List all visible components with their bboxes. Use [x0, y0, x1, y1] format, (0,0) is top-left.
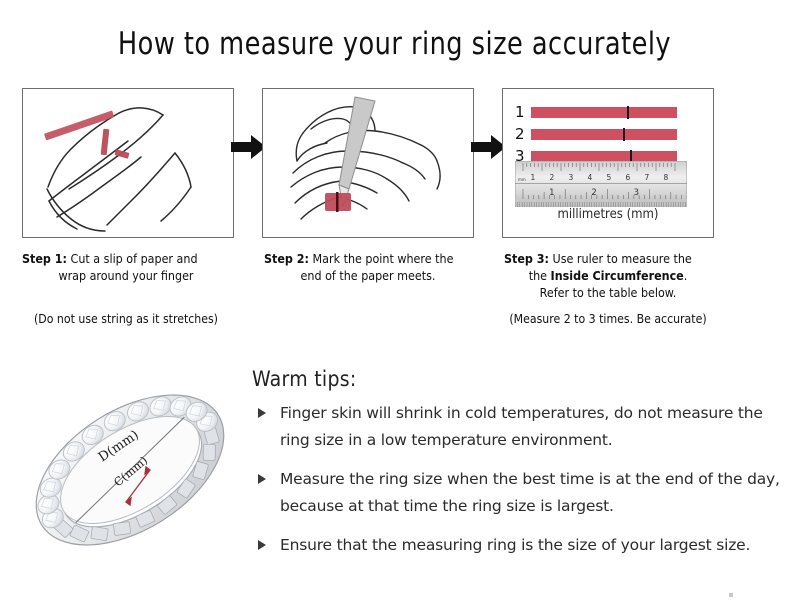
svg-text:6: 6: [626, 173, 631, 182]
page-title: How to measure your ring size accurately: [32, 26, 758, 62]
strip-mark-2: [623, 128, 625, 141]
strip-number-2: 2: [515, 125, 531, 143]
triangle-bullet-icon: [258, 474, 266, 484]
svg-text:7: 7: [645, 173, 650, 182]
ruler-unit-label: millimetres (mm): [503, 207, 713, 222]
svg-text:2: 2: [550, 173, 555, 182]
step-3-line2-pre: the: [529, 268, 551, 283]
paper-strip-row-1: 1: [515, 103, 677, 121]
strip-number-1: 1: [515, 103, 531, 121]
diamond-eternity-ring-icon: D(mm) C(mm): [18, 352, 256, 582]
step-3-line3: Refer to the table below.: [540, 285, 677, 300]
tip-text-1: Finger skin will shrink in cold temperat…: [280, 404, 763, 449]
step-3-line1: Use ruler to measure the: [553, 251, 692, 266]
step-2-illustration-panel: [262, 88, 474, 238]
hand-with-pen-marking-icon: [263, 89, 473, 237]
tip-item-3: Ensure that the measuring ring is the si…: [252, 532, 782, 559]
paper-strip-3: [531, 151, 677, 162]
step-1-illustration-panel: [22, 88, 234, 238]
ruler-icon: 12345678 mm 123: [515, 161, 687, 207]
step-3-caption: Step 3: Use ruler to measure the the Ins…: [492, 250, 724, 301]
tip-item-2: Measure the ring size when the best time…: [252, 466, 782, 520]
step-1-label: Step 1:: [22, 251, 67, 266]
svg-text:1: 1: [549, 188, 554, 198]
svg-text:2: 2: [591, 188, 596, 198]
step-1-line2: wrap around your finger: [58, 268, 193, 283]
triangle-bullet-icon: [258, 408, 266, 418]
paper-strip-row-2: 2: [515, 125, 677, 143]
step-1-note: (Do not use string as it stretches): [10, 312, 242, 326]
step-3-label: Step 3:: [504, 251, 549, 266]
step-1-line1: Cut a slip of paper and: [71, 251, 198, 266]
step-3-illustration-panel: 1 2 3: [502, 88, 714, 238]
strip-mark-1: [627, 106, 629, 119]
paper-strip-1: [531, 107, 677, 118]
step-3-line2-post: .: [684, 268, 688, 283]
step-2-caption: Step 2: Mark the point where the end of …: [252, 250, 484, 284]
warm-tips-list: Finger skin will shrink in cold temperat…: [252, 400, 782, 571]
ring-size-guide-page: How to measure your ring size accurately: [0, 0, 789, 606]
svg-text:8: 8: [664, 173, 669, 182]
warm-tips-heading: Warm tips:: [252, 367, 357, 391]
step-3-note: (Measure 2 to 3 times. Be accurate): [492, 312, 724, 326]
hand-with-paper-strip-icon: [23, 89, 233, 237]
tip-text-2: Measure the ring size when the best time…: [280, 470, 780, 515]
step-3-line2-bold: Inside Circumference: [551, 268, 684, 283]
svg-text:3: 3: [634, 188, 639, 198]
svg-text:4: 4: [588, 173, 593, 182]
step-2-label: Step 2:: [264, 251, 309, 266]
ruler-mm-unit: mm: [518, 177, 526, 182]
tip-item-1: Finger skin will shrink in cold temperat…: [252, 400, 782, 454]
paper-strip-2: [531, 129, 677, 140]
triangle-bullet-icon: [258, 540, 266, 550]
svg-text:1: 1: [531, 173, 536, 182]
step-2-line2: end of the paper meets.: [301, 268, 436, 283]
ring-diagram: D(mm) C(mm): [18, 352, 256, 582]
svg-text:3: 3: [569, 173, 574, 182]
step-2-line1: Mark the point where the: [313, 251, 454, 266]
corner-artifact: [729, 593, 733, 597]
svg-text:5: 5: [607, 173, 612, 182]
tip-text-3: Ensure that the measuring ring is the si…: [280, 536, 750, 554]
step-1-caption: Step 1: Cut a slip of paper and wrap aro…: [10, 250, 242, 284]
